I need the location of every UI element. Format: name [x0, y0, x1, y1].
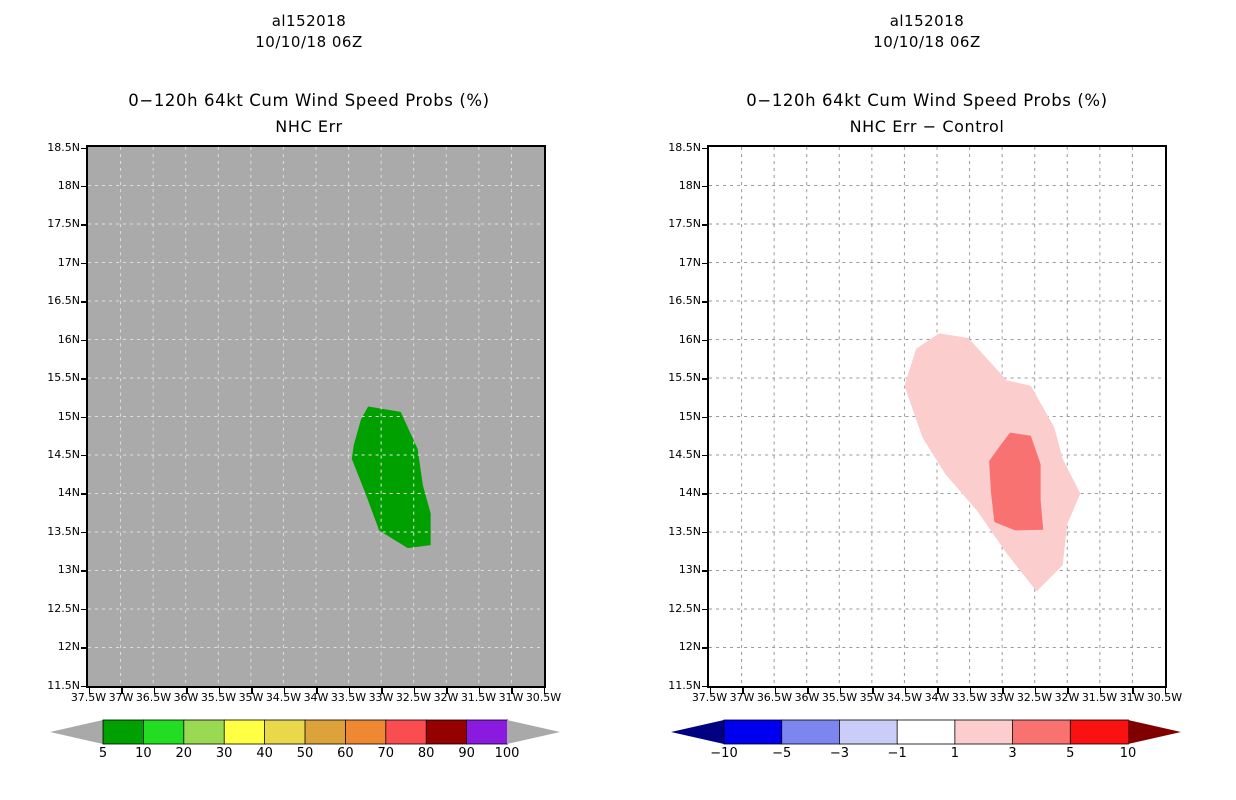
y-tick-label: 16.5N: [649, 294, 701, 307]
subtitle-left: NHC Err: [0, 117, 618, 136]
y-tick-mark: [81, 263, 87, 265]
colorbar-tick-label: 3: [988, 746, 1038, 761]
x-tick-mark: [89, 688, 91, 694]
x-tick-mark: [154, 688, 156, 694]
y-tick-mark: [702, 224, 708, 226]
colorbar-segment: [467, 720, 508, 744]
y-tick-label: 15N: [28, 410, 80, 423]
y-tick-label: 15.5N: [28, 371, 80, 384]
x-tick-mark: [1035, 688, 1037, 694]
y-tick-mark: [702, 340, 708, 342]
y-tick-label: 15N: [649, 410, 701, 423]
main-title-left: 0−120h 64kt Cum Wind Speed Probs (%): [0, 91, 618, 110]
colorbar-under-arrow: [671, 720, 724, 744]
y-tick-mark: [702, 263, 708, 265]
y-tick-label: 14N: [28, 486, 80, 499]
colorbar-segment: [897, 720, 955, 744]
y-tick-label: 14N: [649, 486, 701, 499]
y-tick-mark: [81, 532, 87, 534]
x-tick-mark: [1002, 688, 1004, 694]
y-tick-mark: [702, 417, 708, 419]
colorbar-segment: [1070, 720, 1128, 744]
x-tick-mark: [872, 688, 874, 694]
x-tick-mark: [970, 688, 972, 694]
colorbar-probability[interactable]: [50, 718, 560, 746]
x-tick-mark: [775, 688, 777, 694]
y-tick-label: 15.5N: [649, 371, 701, 384]
colorbar-tick-label: −5: [757, 746, 807, 761]
y-tick-mark: [702, 455, 708, 457]
x-tick-mark: [905, 688, 907, 694]
x-tick-mark: [186, 688, 188, 694]
x-tick-mark: [316, 688, 318, 694]
y-tick-mark: [702, 686, 708, 688]
colorbar-over-arrow: [507, 720, 560, 744]
date-left: 10/10/18 06Z: [0, 33, 618, 51]
y-tick-label: 17.5N: [28, 217, 80, 230]
y-tick-mark: [702, 493, 708, 495]
y-tick-label: 17.5N: [649, 217, 701, 230]
x-tick-mark: [544, 688, 546, 694]
y-tick-label: 16N: [649, 333, 701, 346]
y-tick-mark: [702, 148, 708, 150]
y-tick-mark: [81, 186, 87, 188]
colorbar-over-arrow: [1128, 720, 1181, 744]
y-tick-mark: [81, 686, 87, 688]
y-tick-label: 18.5N: [28, 141, 80, 154]
colorbar-tick-label: −1: [872, 746, 922, 761]
date-right: 10/10/18 06Z: [618, 33, 1236, 51]
colorbar-tick-label: 1: [930, 746, 980, 761]
contour-5–10: [352, 406, 431, 548]
main-title-right: 0−120h 64kt Cum Wind Speed Probs (%): [618, 91, 1236, 110]
storm-id-right: al152018: [618, 12, 1236, 30]
y-tick-label: 12.5N: [28, 602, 80, 615]
x-tick-mark: [414, 688, 416, 694]
y-tick-label: 17N: [649, 256, 701, 269]
y-tick-label: 14.5N: [28, 448, 80, 461]
y-tick-mark: [702, 532, 708, 534]
y-tick-mark: [81, 570, 87, 572]
x-tick-mark: [937, 688, 939, 694]
y-tick-mark: [702, 186, 708, 188]
x-tick-mark: [1067, 688, 1069, 694]
y-tick-mark: [81, 455, 87, 457]
y-tick-label: 16.5N: [28, 294, 80, 307]
y-tick-mark: [81, 609, 87, 611]
colorbar-segment: [724, 720, 782, 744]
y-tick-mark: [81, 224, 87, 226]
x-tick-mark: [840, 688, 842, 694]
subtitle-right: NHC Err − Control: [618, 117, 1236, 136]
x-tick-mark: [284, 688, 286, 694]
y-tick-mark: [81, 417, 87, 419]
colorbar-difference[interactable]: [671, 718, 1181, 746]
y-tick-mark: [81, 301, 87, 303]
y-tick-label: 11.5N: [649, 679, 701, 692]
colorbar-tick-label: 100: [482, 746, 532, 761]
colorbar-segment: [955, 720, 1013, 744]
y-tick-label: 11.5N: [28, 679, 80, 692]
colorbar-segment: [224, 720, 265, 744]
y-tick-label: 12N: [28, 640, 80, 653]
y-tick-label: 12.5N: [649, 602, 701, 615]
y-tick-mark: [81, 647, 87, 649]
x-tick-mark: [1100, 688, 1102, 694]
colorbar-segment: [386, 720, 427, 744]
plot-area-nhc-err-minus-control[interactable]: [707, 145, 1167, 688]
colorbar-segment: [426, 720, 467, 744]
y-tick-label: 16N: [28, 333, 80, 346]
x-tick-mark: [446, 688, 448, 694]
y-tick-label: 18.5N: [649, 141, 701, 154]
colorbar-tick-label: 10: [1103, 746, 1153, 761]
x-tick-mark: [121, 688, 123, 694]
x-tick-mark: [710, 688, 712, 694]
y-tick-label: 13.5N: [28, 525, 80, 538]
colorbar-under-arrow: [50, 720, 103, 744]
x-tick-mark: [511, 688, 513, 694]
y-tick-mark: [81, 340, 87, 342]
x-tick-mark: [1132, 688, 1134, 694]
colorbar-segment: [782, 720, 840, 744]
x-tick-mark: [219, 688, 221, 694]
colorbar-tick-label: −10: [699, 746, 749, 761]
y-tick-mark: [702, 609, 708, 611]
colorbar-tick-label: −3: [814, 746, 864, 761]
x-tick-mark: [807, 688, 809, 694]
colorbar-segment: [839, 720, 897, 744]
y-tick-label: 13N: [649, 563, 701, 576]
y-tick-mark: [702, 301, 708, 303]
storm-id-left: al152018: [0, 12, 618, 30]
y-tick-mark: [702, 647, 708, 649]
panel-nhc-err: al152018 10/10/18 06Z 0−120h 64kt Cum Wi…: [0, 0, 618, 800]
plot-area-nhc-err[interactable]: [86, 145, 546, 688]
y-tick-label: 14.5N: [649, 448, 701, 461]
colorbar-segment: [265, 720, 306, 744]
colorbar-segment: [143, 720, 184, 744]
contour-shapes-left: [88, 147, 544, 686]
x-tick-mark: [251, 688, 253, 694]
colorbar-segment: [345, 720, 386, 744]
x-tick-mark: [742, 688, 744, 694]
x-tick-mark: [1165, 688, 1167, 694]
y-tick-mark: [81, 378, 87, 380]
y-tick-label: 18N: [649, 179, 701, 192]
y-tick-label: 13N: [28, 563, 80, 576]
colorbar-segment: [103, 720, 144, 744]
y-tick-label: 18N: [28, 179, 80, 192]
y-tick-label: 13.5N: [649, 525, 701, 538]
y-tick-mark: [702, 378, 708, 380]
y-tick-label: 17N: [28, 256, 80, 269]
x-tick-mark: [349, 688, 351, 694]
x-tick-mark: [479, 688, 481, 694]
x-tick-mark: [381, 688, 383, 694]
y-tick-mark: [81, 493, 87, 495]
y-tick-mark: [702, 570, 708, 572]
colorbar-segment: [1013, 720, 1071, 744]
colorbar-tick-label: 5: [1045, 746, 1095, 761]
colorbar-segment: [305, 720, 346, 744]
contour-shapes-right: [709, 147, 1165, 686]
y-tick-mark: [81, 148, 87, 150]
colorbar-segment: [184, 720, 225, 744]
y-tick-label: 12N: [649, 640, 701, 653]
